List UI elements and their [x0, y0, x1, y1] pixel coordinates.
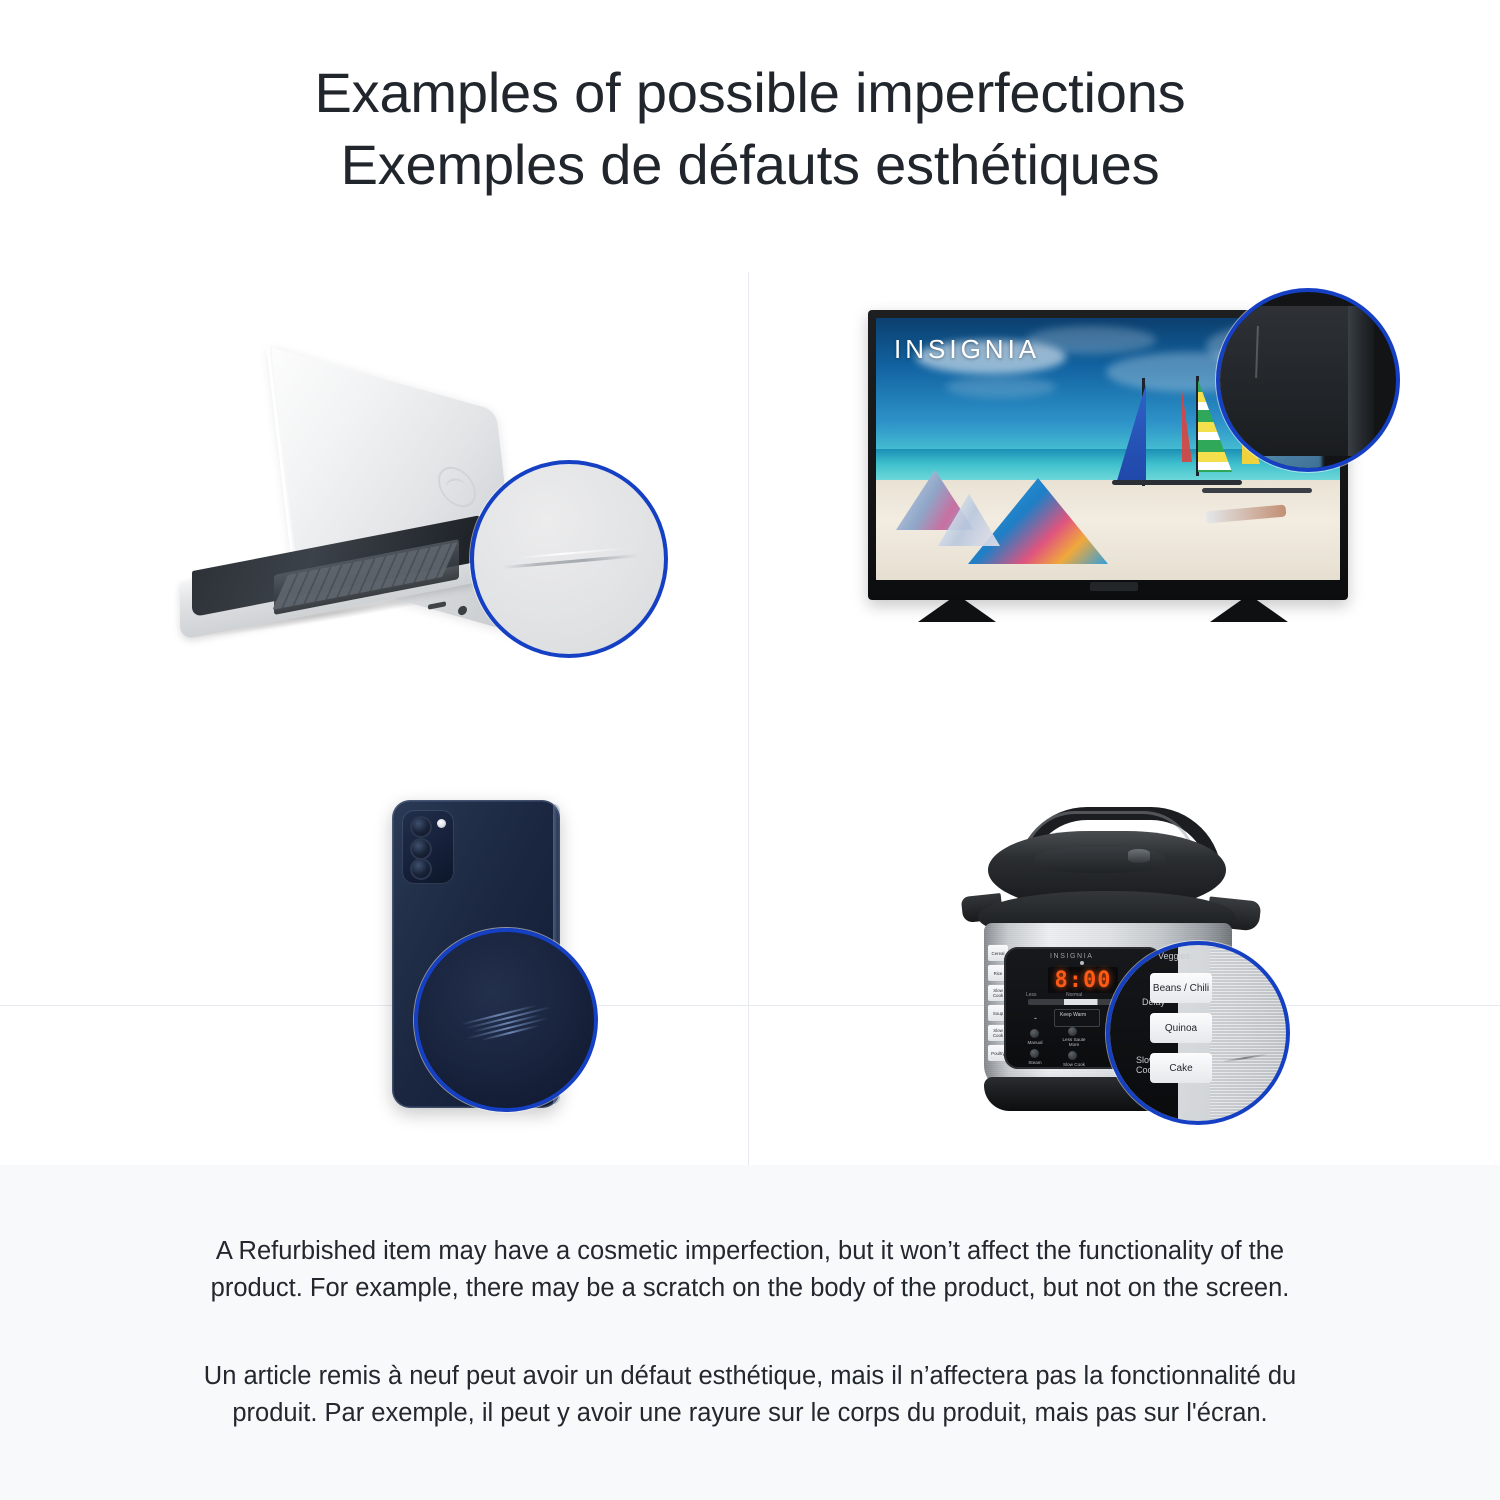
cooker-magnifier-circle: Delay Slow Cook Veggies Beans / Chili Qu…: [1106, 941, 1290, 1125]
page-footer: A Refurbished item may have a cosmetic i…: [0, 1165, 1500, 1500]
cooker-magnified-partial-veggies: Veggies: [1158, 951, 1190, 961]
camera-lens-icon-2: [410, 838, 432, 860]
page-title-en: Examples of possible imperfections: [315, 57, 1186, 129]
cooker-magnified-button-cake[interactable]: Cake: [1150, 1053, 1212, 1083]
cooker-bar-label-normal: Normal: [1066, 992, 1082, 998]
cooker-minus-icon[interactable]: -: [1034, 1013, 1037, 1023]
cooker-steam-valve: [1128, 849, 1150, 863]
cooker-brand-label: INSIGNIA: [1050, 953, 1094, 960]
page-title-fr: Exemples de défauts esthétiques: [341, 129, 1160, 201]
tv-screen-logo: INSIGNIA: [894, 334, 1040, 365]
phone-magnifier-circle: [414, 928, 598, 1112]
cooker-center-label-1: Manual: [1020, 1040, 1050, 1045]
cooker-bar-label-less: Less: [1026, 992, 1037, 998]
cooker-center-button-1[interactable]: [1030, 1029, 1039, 1038]
cooker-center-button-4[interactable]: [1030, 1049, 1039, 1058]
cooker-magnified-button-quinoa[interactable]: Quinoa: [1150, 1013, 1212, 1043]
cooker-keep-warm-window: Keep Warm: [1054, 1009, 1100, 1027]
phone-camera-module: [402, 810, 454, 884]
tv-stand-right: [1210, 600, 1288, 622]
camera-lens-icon-3: [410, 858, 432, 880]
footer-paragraph-fr: Un article remis à neuf peut avoir un dé…: [183, 1358, 1318, 1432]
laptop-magnifier-circle: [470, 460, 668, 658]
camera-lens-icon-1: [410, 816, 432, 838]
cooker-lcd-display: 8:00: [1048, 967, 1118, 993]
tv-brand-badge: [1090, 582, 1138, 591]
cooker-center-button-5[interactable]: [1068, 1051, 1077, 1060]
cooker-magnified-brushed-steel: [1210, 945, 1286, 1121]
example-television: INSIGNIA: [858, 300, 1358, 650]
cooker-magnified-button-column: Veggies Beans / Chili Quinoa Cake: [1150, 951, 1212, 1121]
cooker-center-label-5: Slow Cook: [1058, 1062, 1090, 1067]
tv-magnified-bezel: [1216, 306, 1374, 456]
grid-vertical-divider: [748, 272, 749, 1175]
tv-magnifier-circle: [1216, 288, 1400, 472]
cooker-status-led: [1080, 961, 1084, 965]
example-laptop: [170, 375, 670, 660]
cooker-center-label-2: Less Saute More: [1058, 1037, 1090, 1047]
cooker-center-button-2[interactable]: [1068, 1027, 1077, 1036]
cooker-keep-warm-label: Keep Warm: [1060, 1012, 1086, 1018]
cloud-5: [946, 376, 1056, 398]
hull-2: [1202, 488, 1312, 493]
sail-red: [1182, 390, 1192, 462]
example-pressure-cooker: Cereal Rice Slow Cook Soup Slow Cook Pou…: [960, 795, 1290, 1125]
example-smartphone: [392, 800, 592, 1120]
tv-stand-left: [918, 600, 996, 622]
footer-paragraph-en: A Refurbished item may have a cosmetic i…: [183, 1233, 1318, 1307]
hull-1: [1112, 480, 1242, 485]
camera-flash-icon: [437, 819, 446, 828]
cooker-center-label-4: Steam: [1020, 1060, 1050, 1065]
cooker-display-value: 8:00: [1055, 968, 1112, 993]
page-header: Examples of possible imperfections Exemp…: [0, 0, 1500, 258]
sail-blue: [1116, 384, 1146, 484]
cloud-2: [1026, 326, 1156, 354]
refurbished-imperfections-page: Examples of possible imperfections Exemp…: [0, 0, 1500, 1500]
tv-bezel-scratch: [1255, 326, 1258, 378]
cooker-magnified-button-beans-chili[interactable]: Beans / Chili: [1150, 973, 1212, 1003]
phone-scratches: [460, 999, 556, 1046]
